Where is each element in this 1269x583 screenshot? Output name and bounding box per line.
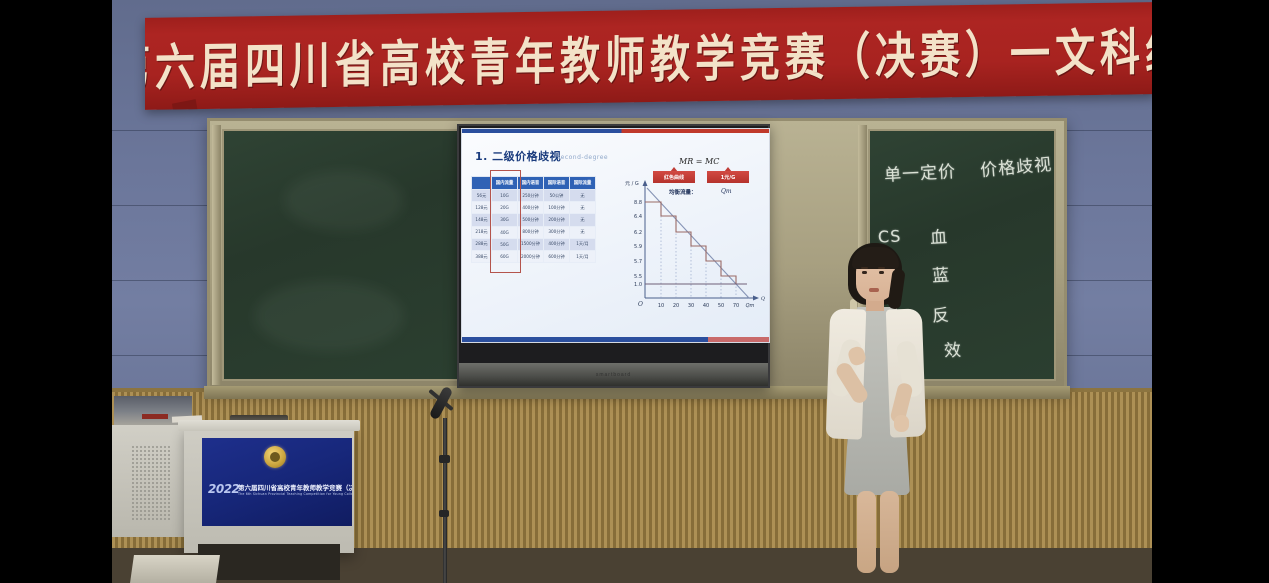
presenter-eyebrow bbox=[878, 267, 885, 269]
table-cell: 250分钟 bbox=[518, 190, 544, 202]
slide-subtitle: second-degree bbox=[557, 154, 608, 161]
handwriting-dan-yi-ding-jia: 单一定价 bbox=[883, 157, 956, 186]
podium-base bbox=[198, 544, 340, 580]
table-cell: 无 bbox=[570, 214, 596, 226]
microphone-height-knob[interactable] bbox=[439, 455, 450, 463]
letterbox-bar-left bbox=[0, 0, 112, 583]
classroom-video-frame: 第六届四川省高校青年教师教学竞赛（决赛）一文科组 单一定价 价格歧视 CS 血 … bbox=[112, 0, 1152, 583]
table-cell: 100分钟 bbox=[544, 202, 570, 214]
banner-fold bbox=[172, 99, 198, 110]
table-header-cell: 国际流量 bbox=[570, 177, 596, 190]
table-cell: 56元 bbox=[472, 190, 492, 202]
slide-title: 1. 二级价格歧视 bbox=[475, 148, 561, 164]
svg-text:5.7: 5.7 bbox=[634, 259, 642, 265]
screenshot-root: 第六届四川省高校青年教师教学竞赛（决赛）一文科组 单一定价 价格歧视 CS 血 … bbox=[0, 0, 1269, 583]
table-cell: 300分钟 bbox=[544, 226, 570, 238]
competition-banner: 第六届四川省高校青年教师教学竞赛（决赛）一文科组 bbox=[145, 2, 1152, 110]
floor-speaker bbox=[112, 425, 192, 537]
blackboard-slide-rail bbox=[212, 125, 221, 385]
podium-banner: 2022 第六届四川省高校青年教师教学竞赛（决赛） The 6th Sichua… bbox=[202, 438, 352, 526]
table-cell: 800分钟 bbox=[518, 226, 544, 238]
table-cell: 400分钟 bbox=[518, 202, 544, 214]
microphone-height-knob[interactable] bbox=[439, 510, 449, 517]
smartboard-display[interactable]: 1. 二级价格歧视 second-degree 国内流量 国内语音 国际语音 国… bbox=[457, 124, 770, 388]
emblem-core bbox=[270, 452, 280, 462]
blackboard-left-panel[interactable] bbox=[222, 129, 467, 381]
chalk-smudge bbox=[254, 281, 404, 351]
presenter-eye bbox=[879, 271, 884, 274]
table-cell: 1500分钟 bbox=[518, 238, 544, 250]
table-cell: 148元 bbox=[472, 214, 492, 226]
slide-top-accent bbox=[461, 128, 770, 133]
svg-text:1.0: 1.0 bbox=[634, 282, 642, 288]
svg-text:O: O bbox=[638, 301, 643, 308]
mr-equals-mc-label: MR = MC bbox=[679, 157, 719, 166]
svg-text:5.9: 5.9 bbox=[634, 244, 642, 250]
speaker-grille bbox=[131, 445, 171, 521]
svg-text:6.2: 6.2 bbox=[634, 230, 642, 236]
handwriting-jia-ge-qi-shi: 价格歧视 bbox=[979, 150, 1053, 181]
svg-text:50: 50 bbox=[718, 303, 724, 309]
svg-text:Qm: Qm bbox=[746, 303, 755, 309]
table-header-cell bbox=[472, 177, 492, 190]
table-cell: 2000分钟 bbox=[518, 250, 544, 262]
smartboard-brand-label: smartboard bbox=[596, 372, 631, 378]
presenter-mouth bbox=[869, 288, 879, 292]
demand-curve-chart: MR = MC 红色曲线 1元/G 均衡流量： Qm 元 / G Q bbox=[621, 158, 761, 318]
table-cell: 无 bbox=[570, 190, 596, 202]
slide-bottom-accent bbox=[461, 337, 770, 343]
svg-text:20: 20 bbox=[673, 303, 679, 309]
table-header-cell: 国际语音 bbox=[544, 177, 570, 190]
svg-text:5.5: 5.5 bbox=[634, 274, 642, 280]
presenter-hair-front bbox=[852, 247, 899, 269]
presenter-leg-right bbox=[880, 491, 899, 573]
table-cell: 200分钟 bbox=[544, 214, 570, 226]
svg-text:30: 30 bbox=[688, 303, 694, 309]
chalk-smudge bbox=[284, 171, 404, 231]
table-cell: 288元 bbox=[472, 238, 492, 250]
letterbox-bar-right bbox=[1152, 0, 1269, 583]
presenter-hand-right bbox=[894, 415, 909, 432]
svg-text:6.4: 6.4 bbox=[634, 214, 642, 220]
podium-chinese-title: 第六届四川省高校青年教师教学竞赛（决赛） bbox=[238, 482, 352, 492]
table-cell: 600分钟 bbox=[544, 250, 570, 262]
banner-title-text: 第六届四川省高校青年教师教学竞赛（决赛）一文科组 bbox=[145, 11, 1152, 100]
table-cell: 1天/月 bbox=[570, 238, 596, 250]
presenter bbox=[802, 243, 962, 583]
table-cell: 388元 bbox=[472, 250, 492, 262]
desk-item-red-book bbox=[142, 414, 168, 419]
podium-top-surface bbox=[178, 420, 360, 431]
table-cell: 1天/月 bbox=[570, 250, 596, 262]
table-cell: 无 bbox=[570, 202, 596, 214]
svg-text:40: 40 bbox=[703, 303, 709, 309]
table-cell: 50公钟 bbox=[544, 190, 570, 202]
table-cell: 400分钟 bbox=[544, 238, 570, 250]
table-cell: 无 bbox=[570, 226, 596, 238]
svg-text:8.8: 8.8 bbox=[634, 200, 642, 206]
table-header-cell: 国内语音 bbox=[518, 177, 544, 190]
x-axis-label: Q bbox=[761, 296, 765, 302]
presenter-eyebrow bbox=[861, 267, 868, 269]
podium-english-title: The 6th Sichuan Provincial Teaching Comp… bbox=[238, 492, 352, 496]
svg-text:10: 10 bbox=[658, 303, 664, 309]
smartboard-bezel: smartboard bbox=[459, 363, 768, 386]
presenter-leg-left bbox=[857, 491, 876, 573]
chart-plot-area: 8.8 6.4 6.2 5.9 5.7 5.5 1.0 10 20 3 bbox=[621, 176, 761, 316]
podium-year: 2022 bbox=[208, 482, 239, 496]
emblem-icon bbox=[264, 446, 286, 468]
svg-text:70: 70 bbox=[733, 303, 739, 309]
presentation-slide: 1. 二级价格歧视 second-degree 国内流量 国内语音 国际语音 国… bbox=[461, 128, 770, 343]
table-cell: 500分钟 bbox=[518, 214, 544, 226]
table-cell: 218元 bbox=[472, 226, 492, 238]
presenter-eye bbox=[862, 271, 867, 274]
side-table bbox=[130, 555, 220, 583]
podium: 2022 第六届四川省高校青年教师教学竞赛（决赛） The 6th Sichua… bbox=[184, 428, 354, 553]
microphone-stand bbox=[443, 418, 447, 583]
highlighted-column-box bbox=[490, 170, 521, 273]
table-cell: 128元 bbox=[472, 202, 492, 214]
